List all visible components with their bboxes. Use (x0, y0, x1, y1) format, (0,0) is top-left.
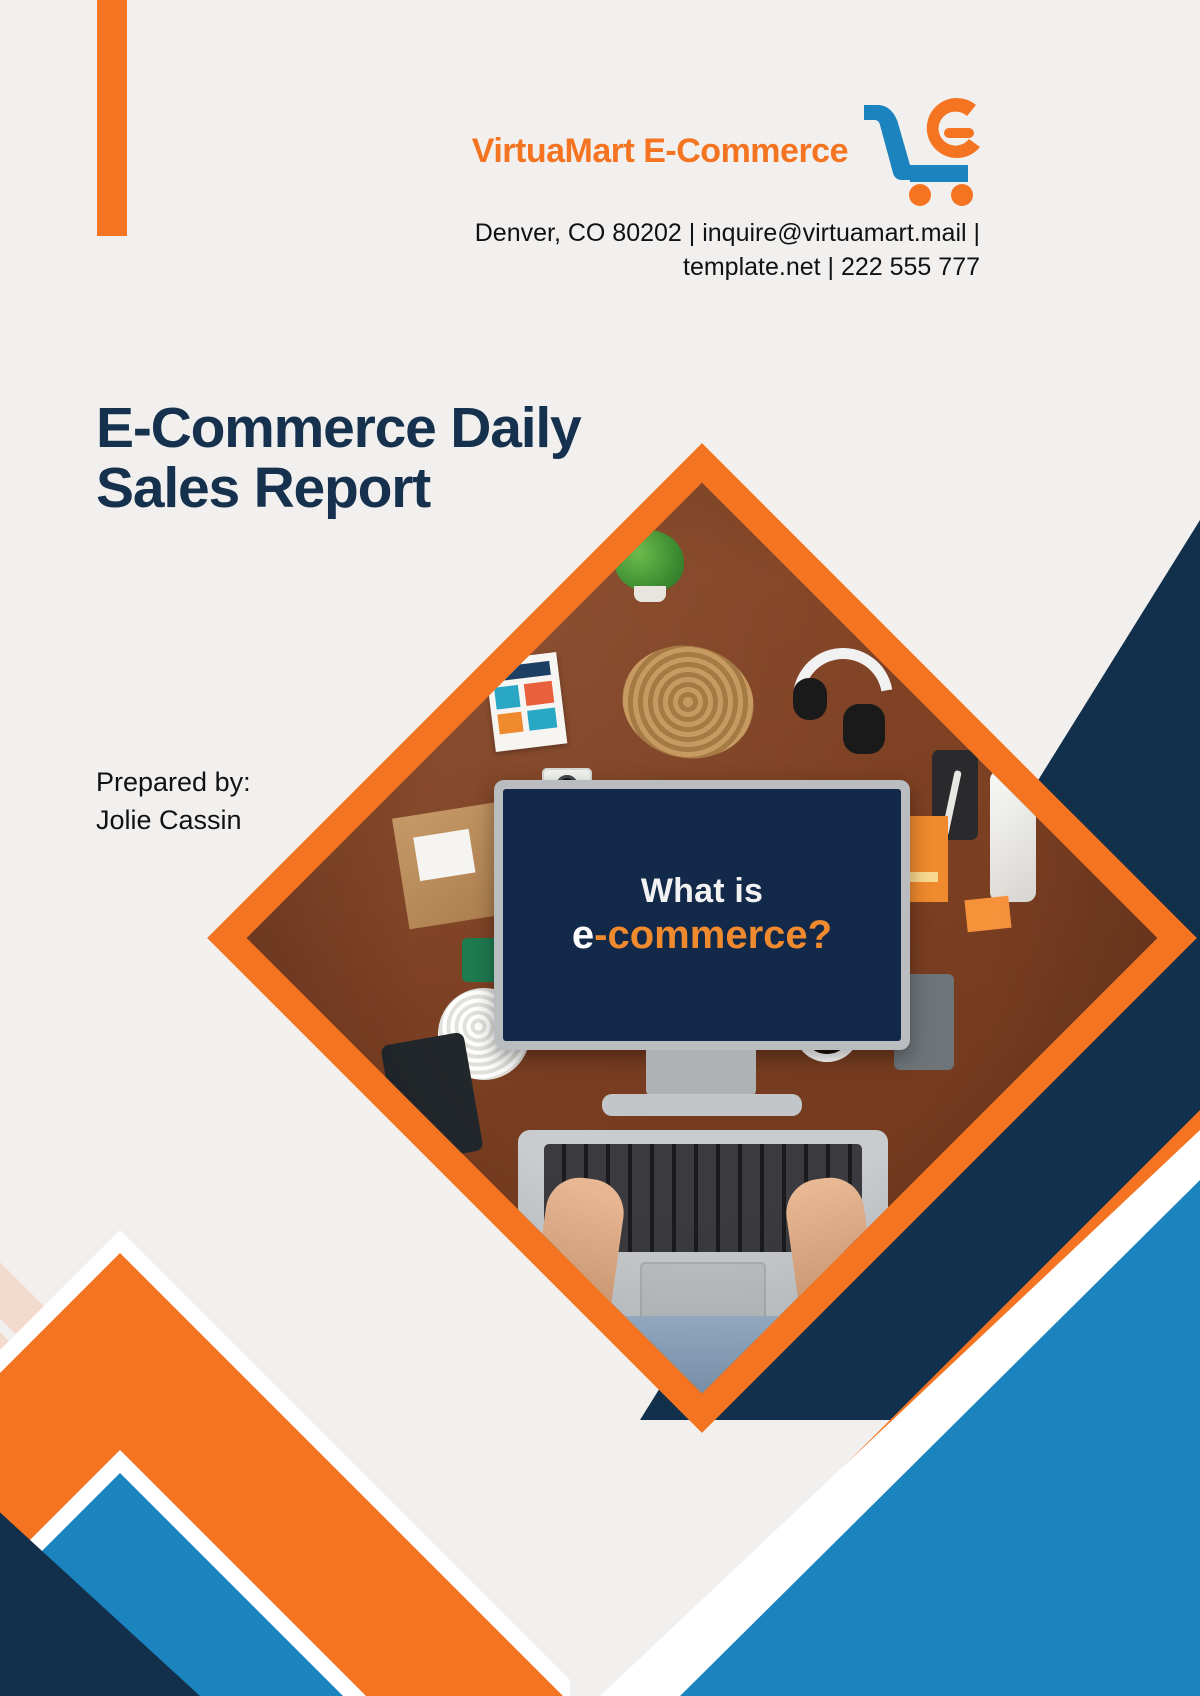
navy-wedge-left (0, 1390, 200, 1696)
shopping-cart-e-icon (858, 95, 980, 207)
report-cover-page: VirtuaMart E-Commerce Denver, CO 80202 |… (0, 0, 1200, 1696)
cover-photo-diamond: What is e-commerce? (207, 443, 1197, 1433)
white-chevron-outer (0, 1230, 570, 1696)
company-name: VirtuaMart E-Commerce (472, 132, 848, 171)
photo-vignette (247, 483, 1158, 1394)
desk-flatlay-photo: What is e-commerce? (247, 483, 1158, 1394)
prepared-by-block: Prepared by: Jolie Cassin (96, 763, 251, 840)
prepared-by-name: Jolie Cassin (96, 801, 251, 839)
orange-accent-bar (97, 0, 127, 236)
prepared-by-label: Prepared by: (96, 763, 251, 801)
blue-chevron (0, 1473, 570, 1696)
contact-line-2: template.net | 222 555 777 (340, 251, 980, 285)
company-contact: Denver, CO 80202 | inquire@virtuamart.ma… (340, 217, 980, 285)
white-chevron-inner (0, 1450, 570, 1696)
orange-chevron (0, 1253, 570, 1696)
brand-row: VirtuaMart E-Commerce (340, 95, 980, 207)
diamond-photo-clip: What is e-commerce? (247, 483, 1158, 1394)
company-header: VirtuaMart E-Commerce Denver, CO 80202 |… (340, 95, 980, 285)
contact-line-1: Denver, CO 80202 | inquire@virtuamart.ma… (340, 217, 980, 251)
